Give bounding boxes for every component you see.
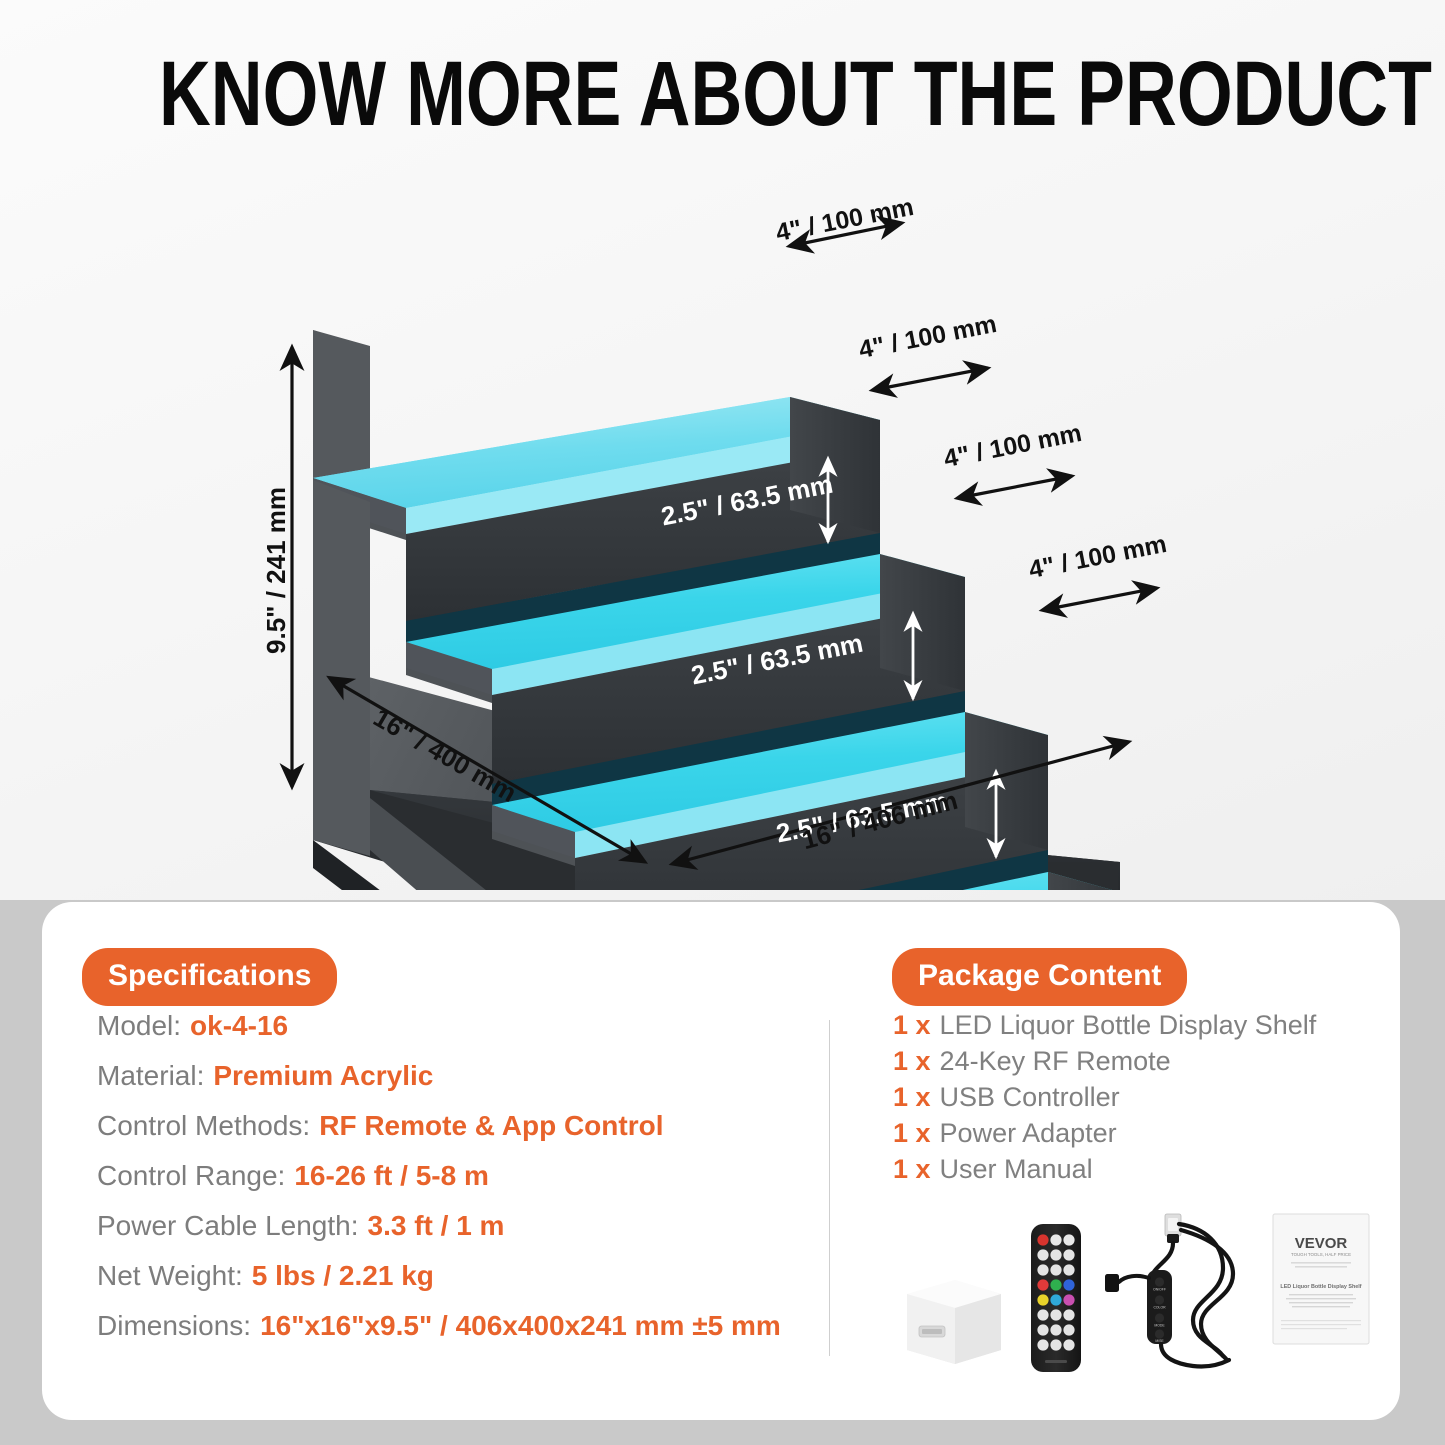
spec-row-power-cable-length: Power Cable Length: 3.3 ft / 1 m (97, 1210, 817, 1260)
package-item-name: LED Liquor Bottle Display Shelf (940, 1010, 1317, 1041)
spec-value: RF Remote & App Control (319, 1110, 663, 1142)
package-item-qty: 1 x (893, 1082, 931, 1113)
package-item-name: User Manual (940, 1154, 1093, 1185)
package-item-qty: 1 x (893, 1010, 931, 1041)
spec-row-control-range: Control Range: 16-26 ft / 5-8 m (97, 1160, 817, 1210)
user-manual-photo: VEVOR TOUGH TOOLS, HALF PRICE LED Liquor… (1273, 1214, 1369, 1344)
package-item-name: USB Controller (940, 1082, 1120, 1113)
package-item-name: 24-Key RF Remote (940, 1046, 1171, 1077)
package-item: 1 x LED Liquor Bottle Display Shelf (893, 1010, 1393, 1046)
controller-label-onoff: ON/OFF (1153, 1288, 1166, 1292)
manual-product: LED Liquor Bottle Display Shelf (1280, 1284, 1361, 1290)
package-item: 1 x 24-Key RF Remote (893, 1046, 1393, 1082)
controller-label-color: COLOR (1153, 1306, 1166, 1310)
spec-value: 16-26 ft / 5-8 m (294, 1160, 489, 1192)
package-item: 1 x USB Controller (893, 1082, 1393, 1118)
spec-value: 16"x16"x9.5" / 406x400x241 mm ±5 mm (260, 1310, 781, 1342)
package-item-qty: 1 x (893, 1118, 931, 1149)
spec-label: Control Range: (97, 1160, 285, 1192)
package-content-heading: Package Content (892, 948, 1187, 1006)
power-adapter-photo (907, 1280, 1001, 1364)
manual-tagline: TOUGH TOOLS, HALF PRICE (1291, 1252, 1351, 1257)
package-item: 1 x Power Adapter (893, 1118, 1393, 1154)
package-content-list: 1 x LED Liquor Bottle Display Shelf 1 x … (893, 1010, 1393, 1190)
usb-controller-photo: ON/OFF COLOR MODE M/SE (1105, 1214, 1233, 1367)
infographic-page: KNOW MORE ABOUT THE PRODUCT (0, 0, 1445, 1445)
package-item-qty: 1 x (893, 1154, 931, 1185)
manual-brand: VEVOR (1295, 1235, 1348, 1252)
product-dimension-diagram: 4" / 100 mm 4" / 100 mm 4" / 100 mm 4" /… (0, 150, 1445, 890)
specifications-heading: Specifications (82, 948, 337, 1006)
spec-row-net-weight: Net Weight: 5 lbs / 2.21 kg (97, 1260, 817, 1310)
spec-label: Control Methods: (97, 1110, 310, 1142)
controller-label-mode: MODE (1154, 1324, 1165, 1328)
hero-section: KNOW MORE ABOUT THE PRODUCT (0, 0, 1445, 900)
package-content-photos: ON/OFF COLOR MODE M/SE VEVOR TOUGH TOOLS… (893, 1208, 1383, 1388)
package-item-name: Power Adapter (940, 1118, 1117, 1149)
spec-row-dimensions: Dimensions: 16"x16"x9.5" / 406x400x241 m… (97, 1310, 817, 1360)
spec-row-control-methods: Control Methods: RF Remote & App Control (97, 1110, 817, 1160)
spec-value: Premium Acrylic (213, 1060, 433, 1092)
rf-remote-photo (1031, 1224, 1081, 1372)
package-item: 1 x User Manual (893, 1154, 1393, 1190)
spec-row-material: Material: Premium Acrylic (97, 1060, 817, 1110)
spec-value: 3.3 ft / 1 m (368, 1210, 505, 1242)
spec-label: Net Weight: (97, 1260, 243, 1292)
spec-row-model: Model: ok-4-16 (97, 1010, 817, 1060)
spec-value: ok-4-16 (190, 1010, 288, 1042)
spec-label: Model: (97, 1010, 181, 1042)
spec-label: Dimensions: (97, 1310, 251, 1342)
panel-divider (829, 1020, 830, 1356)
spec-label: Material: (97, 1060, 204, 1092)
page-title: KNOW MORE ABOUT THE PRODUCT (159, 48, 1286, 140)
spec-label: Power Cable Length: (97, 1210, 359, 1242)
spec-value: 5 lbs / 2.21 kg (252, 1260, 434, 1292)
specifications-list: Model: ok-4-16 Material: Premium Acrylic… (97, 1010, 817, 1360)
package-item-qty: 1 x (893, 1046, 931, 1077)
